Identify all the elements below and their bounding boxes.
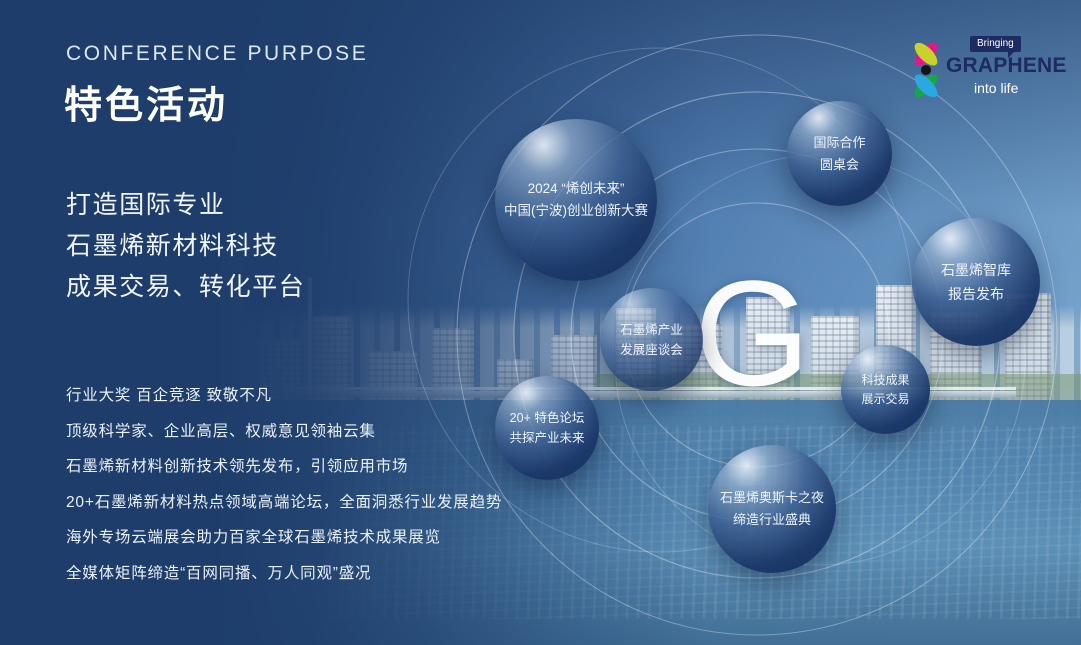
list-item: 石墨烯新材料创新技术领先发布，引领应用市场 bbox=[66, 449, 502, 485]
bubble-line-1: 石墨烯产业 bbox=[620, 320, 683, 340]
bubble-intl-roundtable[interactable]: 国际合作 圆桌会 bbox=[787, 101, 892, 206]
logo-wordmark-wrap: GRAPHENE bbox=[946, 54, 1067, 78]
bubble-think-tank-report[interactable]: 石墨烯智库 报告发布 bbox=[912, 218, 1040, 346]
list-item: 行业大奖 百企竞逐 致敬不凡 bbox=[66, 378, 502, 414]
bubble-tech-showcase[interactable]: 科技成果 展示交易 bbox=[841, 345, 930, 434]
bubble-oscar-night[interactable]: 石墨烯奥斯卡之夜 缔造行业盛典 bbox=[708, 445, 836, 573]
bubble-line-1: 石墨烯智库 bbox=[941, 258, 1011, 282]
page-title: 特色活动 bbox=[64, 74, 228, 129]
highlights-list: 行业大奖 百企竞逐 致敬不凡 顶级科学家、企业高层、权威意见领袖云集 石墨烯新材… bbox=[66, 378, 502, 591]
logo-wordmark: GRAPHENE bbox=[946, 54, 1067, 77]
bubble-line-2: 中国(宁波)创业创新大赛 bbox=[504, 200, 648, 222]
bubble-industry-symposium[interactable]: 石墨烯产业 发展座谈会 bbox=[600, 288, 703, 391]
bubble-line-2: 报告发布 bbox=[948, 282, 1004, 306]
subtitle-line: 石墨烯新材料科技 bbox=[66, 226, 305, 267]
bubble-line-2: 圆桌会 bbox=[820, 154, 859, 176]
bubble-line-1: 科技成果 bbox=[861, 371, 909, 390]
bubble-forums[interactable]: 20+ 特色论坛 共探产业未来 bbox=[495, 376, 599, 480]
bubble-line-1: 国际合作 bbox=[813, 132, 865, 154]
bubble-line-2: 缔造行业盛典 bbox=[733, 509, 811, 531]
logo-tagline: into life bbox=[974, 80, 1018, 96]
bubble-innovation-contest[interactable]: 2024 “烯创未来” 中国(宁波)创业创新大赛 bbox=[495, 119, 657, 281]
bubble-line-2: 展示交易 bbox=[861, 390, 909, 409]
list-item: 顶级科学家、企业高层、权威意见领袖云集 bbox=[66, 414, 502, 450]
bubble-line-1: 20+ 特色论坛 bbox=[510, 408, 585, 428]
bubble-line-2: 发展座谈会 bbox=[620, 340, 683, 360]
graphene-watermark-letter: G bbox=[694, 258, 811, 408]
list-item: 全媒体矩阵缔造“百网同播、万人同观”盛况 bbox=[66, 556, 502, 592]
list-item: 海外专场云端展会助力百家全球石墨烯技术成果展览 bbox=[66, 520, 502, 556]
bubble-line-1: 石墨烯奥斯卡之夜 bbox=[720, 487, 824, 509]
subtitle-block: 打造国际专业 石墨烯新材料科技 成果交易、转化平台 bbox=[66, 185, 305, 308]
subtitle-line: 成果交易、转化平台 bbox=[66, 267, 305, 308]
bubble-line-2: 共探产业未来 bbox=[509, 428, 584, 448]
subtitle-line: 打造国际专业 bbox=[66, 185, 305, 226]
logo-badge: Bringing bbox=[970, 36, 1021, 52]
graphene-logo: Bringing GRAPHENE into life bbox=[898, 32, 1048, 104]
list-item: 20+石墨烯新材料热点领域高端论坛，全面洞悉行业发展趋势 bbox=[66, 485, 502, 521]
presentation-slide: G CONFERENCE PURPOSE 特色活动 打造国际专业 石墨烯新材料科… bbox=[0, 0, 1081, 645]
bubble-line-1: 2024 “烯创未来” bbox=[528, 178, 625, 200]
kicker-text: CONFERENCE PURPOSE bbox=[66, 42, 368, 66]
